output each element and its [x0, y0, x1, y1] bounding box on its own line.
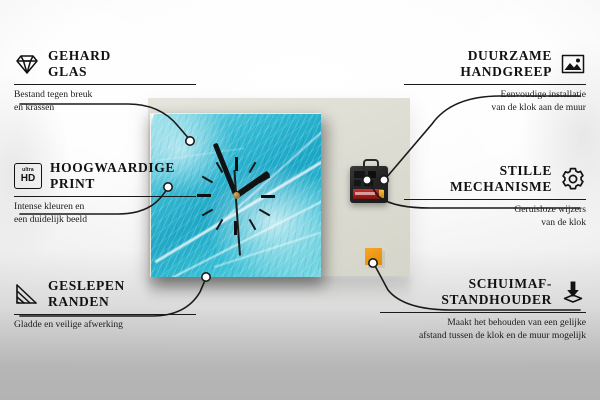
feature-divider [14, 84, 196, 85]
feature-geslepen-randen: GESLEPEN RANDEN Gladde en veilige afwerk… [14, 278, 196, 332]
foam-spacer-pad [365, 248, 382, 265]
mechanism-detail [354, 180, 361, 186]
down-arrow-pad-icon [560, 279, 586, 305]
battery [353, 189, 383, 199]
feature-title: HOOGWAARDIGE PRINT [50, 160, 175, 191]
feature-schuimafstandhouder: SCHUIMAF- STANDHOUDER Maakt het behouden… [380, 276, 586, 343]
feature-subtitle: Maakt het behouden van een gelijke afsta… [380, 317, 586, 342]
feature-divider [14, 196, 196, 197]
feature-subtitle: Bestand tegen breuk en krassen [14, 89, 196, 114]
feature-title: STILLE MECHANISME [450, 163, 552, 194]
beveled-edge-icon [14, 281, 40, 307]
feature-duurzame-handgreep: DUURZAME HANDGREEP Eenvoudige installati… [404, 48, 586, 115]
feature-divider [380, 312, 586, 313]
feature-hoogwaardige-print: ultra HD HOOGWAARDIGE PRINT Intense kleu… [14, 160, 196, 227]
feature-divider [14, 314, 196, 315]
feature-title: GEHARD GLAS [48, 48, 111, 79]
feature-header: SCHUIMAF- STANDHOUDER [380, 276, 586, 307]
clock-hour-hand [234, 170, 270, 198]
mechanism-hanger-hook [363, 159, 379, 170]
feature-title: DUURZAME HANDGREEP [460, 48, 552, 79]
diamond-icon [14, 51, 40, 77]
feature-subtitle: Geruisloze wijzers van de klok [404, 204, 586, 229]
mechanism-detail [368, 171, 376, 178]
feature-header: GEHARD GLAS [14, 48, 196, 79]
feature-header: ultra HD HOOGWAARDIGE PRINT [14, 160, 196, 191]
framed-picture-icon [560, 51, 586, 77]
feature-header: STILLE MECHANISME [404, 163, 586, 194]
battery-label [355, 192, 375, 195]
feature-gehard-glas: GEHARD GLAS Bestand tegen breuk en krass… [14, 48, 196, 115]
feature-title: SCHUIMAF- STANDHOUDER [441, 276, 552, 307]
mechanism-detail [354, 171, 365, 178]
feature-stille-mechanisme: STILLE MECHANISME Geruisloze wijzers van… [404, 163, 586, 230]
clock-center-cap [233, 192, 240, 199]
feature-subtitle: Eenvoudige installatie van de klok aan d… [404, 89, 586, 114]
feature-title: GESLEPEN RANDEN [48, 278, 125, 309]
mechanism-detail [364, 180, 373, 186]
clock-mechanism [350, 166, 388, 203]
feature-subtitle: Intense kleuren en een duidelijk beeld [14, 201, 196, 226]
ultra-hd-icon: ultra HD [14, 163, 42, 189]
feature-divider [404, 199, 586, 200]
feature-subtitle: Gladde en veilige afwerking [14, 319, 196, 332]
gear-icon [560, 166, 586, 192]
feature-header: GESLEPEN RANDEN [14, 278, 196, 309]
feature-header: DUURZAME HANDGREEP [404, 48, 586, 79]
infographic-canvas: GEHARD GLAS Bestand tegen breuk en krass… [0, 0, 600, 400]
feature-divider [404, 84, 586, 85]
